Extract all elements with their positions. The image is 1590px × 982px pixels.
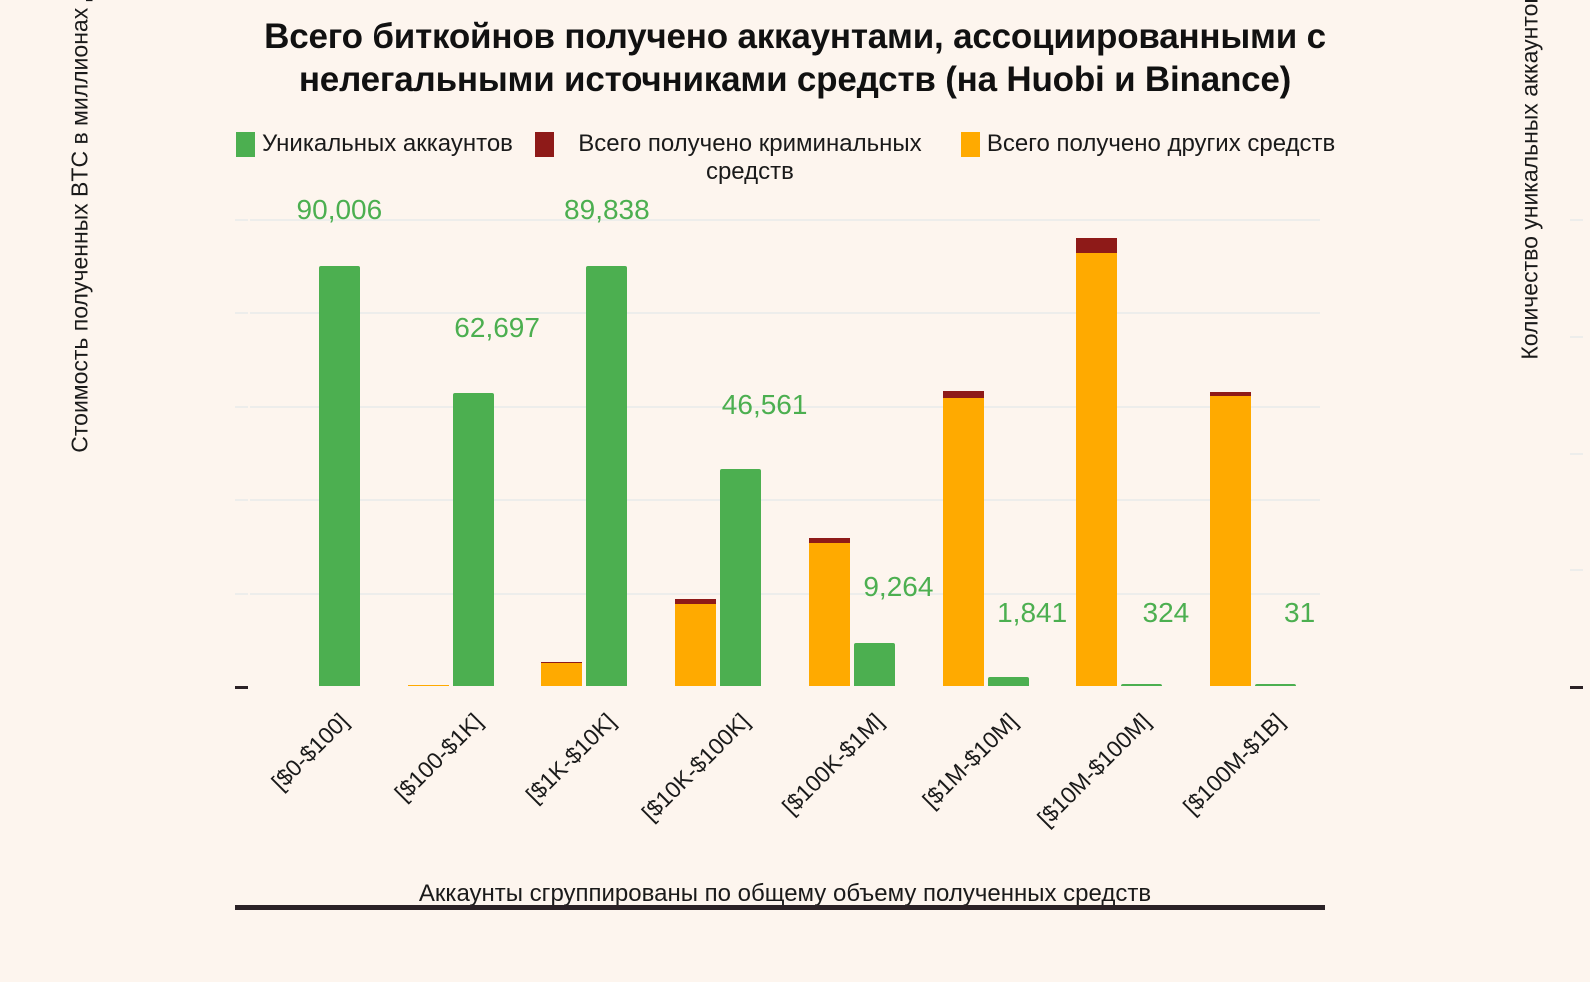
y-axis-left-tick-mark [235, 499, 248, 501]
legend-swatch-dark-red [535, 132, 554, 157]
bar-unique-accounts-0[interactable] [319, 266, 360, 686]
gridline [250, 312, 1320, 314]
bar-unique-accounts-4[interactable] [854, 643, 895, 686]
x-axis-category-label-3: [$10K-$100K] [637, 708, 756, 827]
bar-funds-3[interactable] [675, 599, 716, 686]
plot-area: $0.0B$2.5B$5.0B$7.5B$10.0B$12.5B025,0005… [250, 219, 1320, 686]
bar-unique-accounts-6[interactable] [1121, 684, 1162, 686]
x-axis-category-label-7: [$100M-$1B] [1178, 708, 1290, 820]
x-axis-category-label-6: [$10M-$100M] [1033, 708, 1157, 832]
y-axis-right-tick-mark [1570, 569, 1583, 571]
chart-title-line-2: нелегальными источниками средств (на Huo… [120, 59, 1470, 102]
y-axis-left-tick-mark [235, 593, 248, 595]
x-axis-category-label-1: [$100-$1K] [389, 708, 488, 807]
value-label-unique-accounts-4: 9,264 [863, 571, 933, 603]
y-axis-right-title: Количество уникальных аккаунтов [1517, 0, 1544, 456]
legend-label-unique-accounts: Уникальных аккаунтов [262, 130, 513, 158]
bar-funds-6[interactable] [1076, 238, 1117, 686]
bar-funds-1[interactable] [408, 685, 449, 686]
x-axis-line [235, 905, 1325, 910]
chart-container: Всего биткойнов получено аккаунтами, асс… [0, 0, 1590, 982]
bar-criminal-funds-2[interactable] [541, 662, 582, 663]
y-axis-left-tick-mark [235, 312, 248, 314]
bar-criminal-funds-7[interactable] [1210, 392, 1251, 396]
bar-unique-accounts-7[interactable] [1255, 684, 1296, 686]
chart-title: Всего биткойнов получено аккаунтами, асс… [120, 16, 1470, 101]
gridline [250, 593, 1320, 595]
value-label-unique-accounts-6: 324 [1143, 597, 1190, 629]
value-label-unique-accounts-5: 1,841 [997, 597, 1067, 629]
legend-item-criminal-funds[interactable]: Всего получено криминальных средств [535, 130, 939, 185]
y-axis-right-tick-mark [1570, 219, 1583, 221]
legend-label-criminal-funds: Всего получено криминальных средств [561, 130, 939, 185]
legend-item-unique-accounts[interactable]: Уникальных аккаунтов [236, 130, 513, 158]
y-axis-left-tick-mark [235, 406, 248, 408]
bar-criminal-funds-6[interactable] [1076, 238, 1117, 253]
y-axis-left-tick-mark [235, 219, 248, 221]
x-axis-category-label-4: [$100K-$1M] [777, 708, 889, 820]
bar-unique-accounts-3[interactable] [720, 469, 761, 686]
legend-swatch-green [236, 132, 255, 157]
value-label-unique-accounts-2: 89,838 [564, 194, 650, 226]
x-axis-title: Аккаунты сгруппированы по общему объему … [250, 880, 1320, 908]
x-axis-category-label-2: [$1K-$10K] [521, 708, 621, 808]
legend-item-other-funds[interactable]: Всего получено других средств [961, 130, 1335, 158]
bar-unique-accounts-5[interactable] [988, 677, 1029, 686]
bar-funds-2[interactable] [541, 662, 582, 686]
gridline [250, 686, 1320, 688]
y-axis-left-title: Стоимость полученных BTC в миллионах дол… [67, 0, 94, 456]
bar-funds-4[interactable] [809, 538, 850, 686]
value-label-unique-accounts-0: 90,006 [297, 194, 383, 226]
chart-legend: Уникальных аккаунтов Всего получено крим… [236, 130, 1436, 185]
value-label-unique-accounts-3: 46,561 [722, 389, 808, 421]
bar-criminal-funds-4[interactable] [809, 538, 850, 543]
legend-label-other-funds: Всего получено других средств [987, 130, 1335, 158]
gridline [250, 219, 1320, 221]
value-label-unique-accounts-7: 31 [1284, 597, 1315, 629]
gridline [250, 499, 1320, 501]
x-axis-category-label-0: [$0-$100] [266, 708, 354, 796]
bar-funds-5[interactable] [943, 391, 984, 686]
bar-criminal-funds-3[interactable] [675, 599, 716, 603]
bar-unique-accounts-1[interactable] [453, 393, 494, 686]
bar-criminal-funds-5[interactable] [943, 391, 984, 398]
chart-title-line-1: Всего биткойнов получено аккаунтами, асс… [120, 16, 1470, 59]
y-axis-left-tick-mark [235, 686, 248, 689]
x-axis-category-label-5: [$1M-$10M] [917, 708, 1023, 814]
legend-swatch-orange [961, 132, 980, 157]
bar-funds-7[interactable] [1210, 392, 1251, 686]
bar-unique-accounts-2[interactable] [586, 266, 627, 686]
y-axis-right-tick-mark [1570, 686, 1583, 689]
value-label-unique-accounts-1: 62,697 [454, 312, 540, 344]
y-axis-right-tick-mark [1570, 453, 1583, 455]
y-axis-right-tick-mark [1570, 336, 1583, 338]
